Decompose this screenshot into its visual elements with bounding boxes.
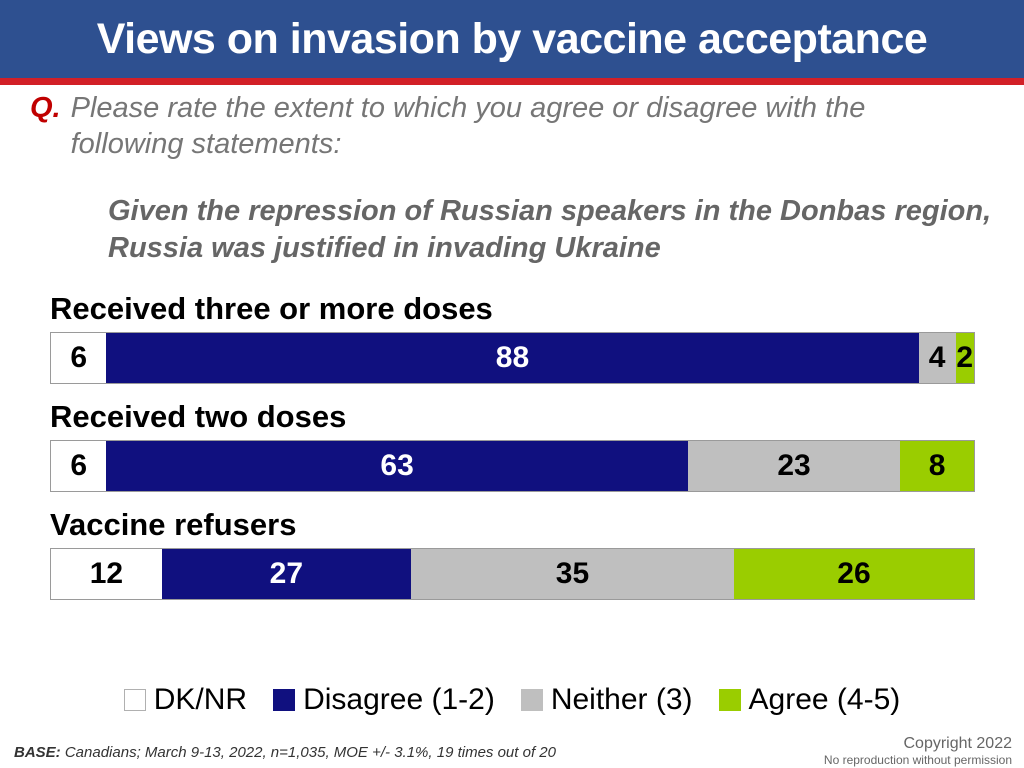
question-statement: Given the repression of Russian speakers… — [108, 193, 1023, 267]
legend-swatch-icon — [273, 689, 295, 711]
chart-row: Vaccine refusers 12 27 35 26 — [0, 506, 1024, 600]
copyright-year: Copyright 2022 — [824, 735, 1012, 753]
copyright-block: Copyright 2022 No reproduction without p… — [824, 735, 1012, 768]
segment-neither[interactable]: 23 — [688, 441, 900, 491]
legend-swatch-icon — [124, 689, 146, 711]
legend-item-disagree[interactable]: Disagree (1-2) — [273, 685, 495, 715]
legend-swatch-icon — [719, 689, 741, 711]
base-note: BASE: Canadians; March 9-13, 2022, n=1,0… — [14, 744, 556, 761]
segment-agree[interactable]: 8 — [900, 441, 974, 491]
legend-label: Agree (4-5) — [749, 685, 901, 715]
question-marker: Q. — [30, 90, 61, 126]
legend-item-agree[interactable]: Agree (4-5) — [719, 685, 901, 715]
base-label: BASE: — [14, 744, 61, 761]
segment-dknr[interactable]: 6 — [51, 333, 106, 383]
segment-agree[interactable]: 2 — [956, 333, 974, 383]
segment-disagree[interactable]: 27 — [162, 549, 411, 599]
legend-label: DK/NR — [154, 685, 247, 715]
row-label: Received three or more doses — [50, 290, 1024, 328]
title-banner: Views on invasion by vaccine acceptance — [0, 0, 1024, 78]
bar-track: 12 27 35 26 — [50, 548, 975, 600]
segment-dknr[interactable]: 6 — [51, 441, 106, 491]
chart-row: Received two doses 6 63 23 8 — [0, 398, 1024, 492]
row-label: Received two doses — [50, 398, 1024, 436]
legend-swatch-icon — [521, 689, 543, 711]
no-reproduction-note: No reproduction without permission — [824, 753, 1012, 768]
row-label: Vaccine refusers — [50, 506, 1024, 544]
segment-agree[interactable]: 26 — [734, 549, 974, 599]
stacked-bar-chart: Received three or more doses 6 88 4 2 Re… — [0, 290, 1024, 614]
question-block: Q. Please rate the extent to which you a… — [30, 90, 990, 162]
page-title: Views on invasion by vaccine acceptance — [97, 18, 928, 61]
base-text: Canadians; March 9-13, 2022, n=1,035, MO… — [65, 744, 556, 761]
segment-disagree[interactable]: 63 — [106, 441, 687, 491]
chart-row: Received three or more doses 6 88 4 2 — [0, 290, 1024, 384]
legend-item-dknr[interactable]: DK/NR — [124, 685, 247, 715]
segment-dknr[interactable]: 12 — [51, 549, 162, 599]
segment-neither[interactable]: 4 — [919, 333, 956, 383]
bar-track: 6 63 23 8 — [50, 440, 975, 492]
question-text: Please rate the extent to which you agre… — [71, 90, 976, 162]
legend-label: Neither (3) — [551, 685, 693, 715]
chart-legend: DK/NR Disagree (1-2) Neither (3) Agree (… — [0, 685, 1024, 715]
bar-track: 6 88 4 2 — [50, 332, 975, 384]
footer: BASE: Canadians; March 9-13, 2022, n=1,0… — [0, 735, 1024, 768]
header-accent-rule — [0, 78, 1024, 85]
segment-disagree[interactable]: 88 — [106, 333, 918, 383]
legend-item-neither[interactable]: Neither (3) — [521, 685, 693, 715]
legend-label: Disagree (1-2) — [303, 685, 495, 715]
segment-neither[interactable]: 35 — [411, 549, 734, 599]
